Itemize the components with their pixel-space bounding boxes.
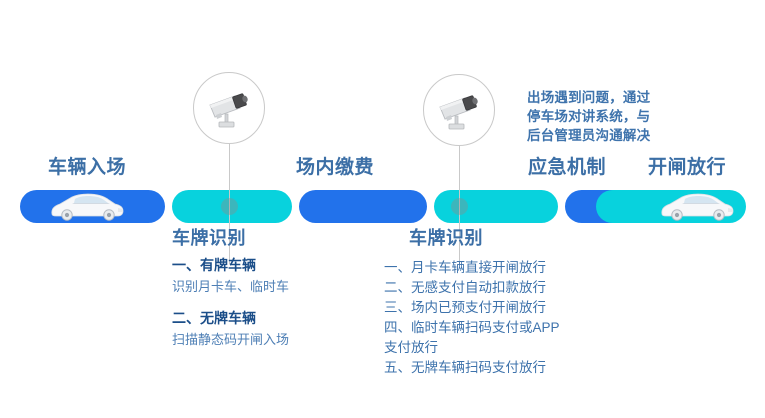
entry-detail-item1-sub: 识别月卡车、临时车 [172,278,289,296]
camera-node-entry [193,72,267,146]
stage-label-payment: 场内缴费 [296,152,374,179]
sub-label-lpr-exit: 车牌识别 [409,224,483,250]
emergency-annotation: 出场遇到问题，通过 停车场对讲系统，与 后台管理员沟通解决 [527,88,707,145]
white-car-icon-exit [658,191,736,221]
stage-label-open-gate: 开闸放行 [648,152,726,179]
cctv-camera-icon [206,88,252,128]
exit-detail-item: 四、临时车辆扫码支付或APP [384,318,560,338]
timeline-segment-3 [299,190,427,223]
exit-detail-item: 三、场内已预支付开闸放行 [384,298,560,318]
stage-label-emergency: 应急机制 [528,152,606,179]
exit-detail-item: 五、无牌车辆扫码支付放行 [384,358,560,378]
parking-flow-diagram: 车辆入场 场内缴费 应急机制 开闸放行 车牌识别 车牌识别 一、有牌车辆 识别月… [0,0,765,418]
entry-details-block: 一、有牌车辆 识别月卡车、临时车 二、无牌车辆 扫描静态码开闸入场 [172,256,289,349]
entry-detail-item2-heading: 二、无牌车辆 [172,309,289,328]
timeline-bar [20,190,746,223]
exit-detail-item: 二、无感支付自动扣款放行 [384,278,560,298]
stage-label-entry: 车辆入场 [48,152,126,179]
annotation-line-1: 出场遇到问题，通过 [527,88,707,107]
white-car-icon-entry [48,191,126,221]
camera-node-exit [423,74,497,148]
exit-details-block: 一、月卡车辆直接开闸放行 二、无感支付自动扣款放行 三、场内已预支付开闸放行 四… [384,258,560,378]
exit-detail-item: 一、月卡车辆直接开闸放行 [384,258,560,278]
timeline-node-dot-exit [451,198,468,215]
timeline-node-dot-entry [221,198,238,215]
cctv-camera-icon [436,90,482,130]
entry-detail-item2-sub: 扫描静态码开闸入场 [172,331,289,349]
exit-detail-item-continued: 支付放行 [384,338,560,358]
entry-detail-item1-heading: 一、有牌车辆 [172,256,289,275]
sub-label-lpr-entry: 车牌识别 [172,224,246,250]
annotation-line-3: 后台管理员沟通解决 [527,126,707,145]
annotation-line-2: 停车场对讲系统，与 [527,107,707,126]
